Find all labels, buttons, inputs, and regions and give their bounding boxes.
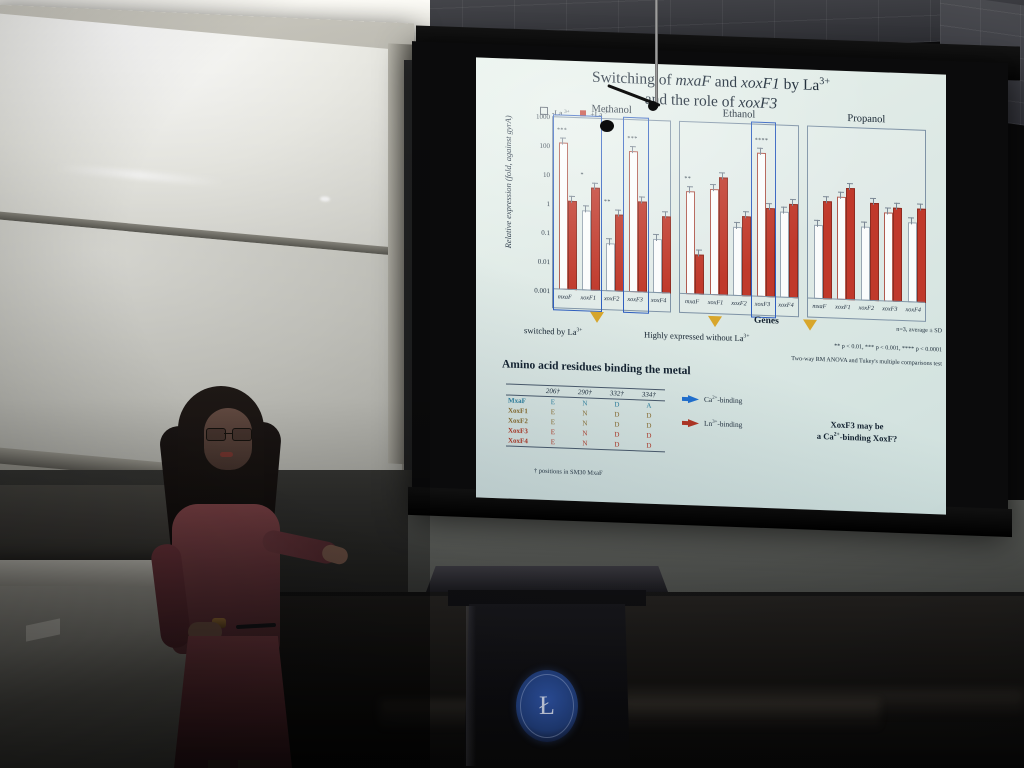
error-bar bbox=[656, 234, 657, 241]
title-post: by La bbox=[780, 76, 820, 94]
bar-group-xoxF1 bbox=[704, 123, 727, 296]
error-bar bbox=[745, 211, 746, 218]
error-bar bbox=[594, 183, 595, 190]
title-charge: 3+ bbox=[819, 76, 830, 87]
bar-group-xoxF2: ** bbox=[600, 119, 623, 292]
bar-group-xoxF3: **** bbox=[751, 124, 774, 297]
x-axis: mxaFxoxF1xoxF2xoxF3xoxF4 bbox=[553, 288, 670, 311]
error-bar bbox=[632, 147, 633, 154]
error-bar bbox=[911, 217, 912, 224]
x-tick-label-xoxF4: xoxF4 bbox=[902, 302, 925, 321]
bar-xoxF1-minus-la bbox=[710, 189, 719, 296]
bar-group-mxaF: *** bbox=[553, 117, 576, 290]
x-tick-label-xoxF4: xoxF4 bbox=[647, 293, 670, 312]
bar-group-mxaF: ** bbox=[680, 122, 703, 295]
significance-mark: ** bbox=[604, 199, 611, 205]
table-cell: N bbox=[569, 438, 601, 450]
red-arrow-icon bbox=[682, 419, 699, 428]
bar-group-xoxF1: * bbox=[576, 118, 599, 291]
bar-group-xoxF4 bbox=[902, 130, 925, 303]
annotation-switched-by-la: switched by La3+ bbox=[524, 325, 582, 337]
x-tick-label-xoxF2: xoxF2 bbox=[600, 291, 623, 310]
lectern: Ł bbox=[426, 566, 668, 768]
bar-xoxF4-minus-la bbox=[780, 211, 789, 298]
y-tick-label: 0.01 bbox=[538, 258, 550, 266]
floor-highlight-right bbox=[620, 690, 1024, 716]
plot-area: ****** bbox=[680, 122, 797, 298]
title-gene-xoxF1: xoxF1 bbox=[741, 74, 780, 92]
bar-xoxF4-plus-la bbox=[789, 204, 798, 298]
error-bar bbox=[873, 198, 874, 205]
binding-legend: Ca2+-binding Ln3+-binding bbox=[682, 395, 742, 445]
table-cell: E bbox=[537, 437, 569, 449]
x-axis: mxaFxoxF1xoxF2xoxF3xoxF4 bbox=[680, 293, 797, 316]
bar-xoxF4-plus-la bbox=[662, 216, 671, 294]
bar-mxaF-minus-la bbox=[559, 142, 568, 289]
bar-group-xoxF4 bbox=[774, 125, 797, 298]
table-footnote: † positions in SM30 MxaF bbox=[534, 468, 603, 478]
bar-group-mxaF bbox=[808, 127, 831, 300]
chart-panel-methanol: Methanol*********mxaFxoxF1xoxF2xoxF3xoxF… bbox=[552, 116, 671, 312]
bar-group-xoxF2 bbox=[855, 128, 878, 301]
x-tick-label-xoxF3: xoxF3 bbox=[878, 301, 901, 320]
y-tick-label: 0.1 bbox=[541, 229, 550, 237]
lectern-neck bbox=[448, 590, 646, 606]
error-bar bbox=[817, 220, 818, 227]
bar-xoxF2-minus-la bbox=[733, 227, 742, 296]
x-tick-label-xoxF3: xoxF3 bbox=[751, 296, 774, 315]
leg-right bbox=[238, 760, 260, 768]
table-cell: D bbox=[633, 440, 665, 452]
bar-xoxF2-minus-la bbox=[861, 227, 870, 301]
error-bar bbox=[618, 209, 619, 216]
emblem-monogram: Ł bbox=[539, 691, 555, 721]
x-axis-label: Genes bbox=[754, 316, 779, 327]
stats-note-p: ** p < 0.01, *** p < 0.001, **** p < 0.0… bbox=[834, 343, 942, 356]
annotation-text: switched by La bbox=[524, 325, 577, 337]
error-bar bbox=[783, 206, 784, 213]
error-bar bbox=[736, 222, 737, 229]
bar-xoxF3-minus-la bbox=[884, 212, 893, 301]
whiteboard-panel-top bbox=[0, 13, 402, 250]
bar-xoxF1-minus-la bbox=[837, 197, 846, 300]
title-gene-mxaF: mxaF bbox=[676, 72, 711, 90]
error-bar bbox=[896, 203, 897, 210]
x-tick-label-mxaF: mxaF bbox=[680, 294, 703, 313]
lecture-hall-photo: Switching of mxaF and xoxF1 by La3+ and … bbox=[0, 0, 1024, 768]
plot-area: ********* bbox=[553, 117, 670, 293]
error-bar bbox=[722, 172, 723, 179]
presenter bbox=[150, 386, 340, 768]
lectern-edge-highlight bbox=[466, 606, 476, 766]
x-tick-label-xoxF2: xoxF2 bbox=[727, 296, 750, 315]
bar-xoxF4-plus-la bbox=[917, 208, 926, 302]
chart-panel-propanol: PropanolmxaFxoxF1xoxF2xoxF3xoxF4 bbox=[807, 126, 926, 322]
bar-group-xoxF4 bbox=[647, 121, 670, 294]
y-axis-label: Relative expression (fold, against gyrA) bbox=[504, 107, 515, 257]
bar-xoxF3-minus-la bbox=[629, 151, 638, 292]
binding-legend-ca: Ca2+-binding bbox=[682, 395, 742, 405]
annotation-highly-expressed: Highly expressed without La3+ bbox=[644, 330, 749, 344]
y-tick-label: 1 bbox=[547, 200, 551, 208]
bar-mxaF-minus-la bbox=[814, 225, 823, 299]
bar-xoxF3-minus-la bbox=[757, 152, 766, 297]
lips bbox=[220, 452, 233, 457]
error-bar bbox=[792, 199, 793, 206]
annotation-charge: 3+ bbox=[577, 327, 583, 333]
significance-mark: **** bbox=[755, 137, 769, 143]
significance-mark: *** bbox=[557, 127, 567, 133]
down-arrow-icon bbox=[590, 312, 604, 324]
significance-mark: ** bbox=[684, 176, 691, 182]
ceiling-rod bbox=[655, 0, 658, 108]
y-tick-label: 10 bbox=[543, 171, 550, 179]
x-tick-label-xoxF2: xoxF2 bbox=[855, 300, 878, 319]
y-tick-label: 100 bbox=[540, 142, 551, 150]
error-bar bbox=[641, 196, 642, 203]
x-tick-label-xoxF4: xoxF4 bbox=[774, 297, 797, 316]
section-subheading: Amino acid residues binding the metal bbox=[502, 358, 691, 377]
y-tick-label: 1000 bbox=[536, 113, 550, 122]
significance-mark: * bbox=[580, 172, 583, 178]
down-arrow-icon bbox=[708, 316, 722, 328]
binding-label-ln: Ln3+-binding bbox=[704, 420, 742, 429]
binding-label-ca: Ca2+-binding bbox=[704, 396, 742, 405]
bar-xoxF2-minus-la bbox=[606, 243, 615, 292]
error-bar bbox=[689, 186, 690, 193]
bar-group-xoxF3: *** bbox=[623, 120, 646, 293]
x-axis: mxaFxoxF1xoxF2xoxF3xoxF4 bbox=[808, 298, 925, 321]
error-bar bbox=[665, 211, 666, 218]
title-mid: and bbox=[711, 73, 741, 91]
error-bar bbox=[920, 204, 921, 211]
bar-xoxF4-minus-la bbox=[653, 239, 662, 293]
binding-legend-ln: Ln3+-binding bbox=[682, 419, 742, 429]
bar-xoxF4-minus-la bbox=[908, 222, 917, 303]
y-axis-ticks: 10001001010.10.010.001 bbox=[524, 116, 550, 307]
table-cell: D bbox=[601, 439, 633, 451]
bar-group-xoxF1 bbox=[831, 127, 854, 300]
x-tick-label-xoxF1: xoxF1 bbox=[831, 299, 854, 318]
error-bar bbox=[698, 250, 699, 257]
bar-mxaF-minus-la bbox=[686, 191, 695, 294]
leg-left bbox=[208, 760, 230, 768]
slide-conclusion: XoxF3 may be a Ca2+-binding XoxF? bbox=[782, 417, 932, 447]
x-tick-label-xoxF3: xoxF3 bbox=[623, 292, 646, 311]
stats-note-test: Two-way RM ANOVA and Tukey's multiple co… bbox=[791, 355, 942, 370]
error-bar bbox=[562, 138, 563, 145]
bar-group-xoxF2 bbox=[727, 124, 750, 297]
plot-area bbox=[808, 127, 925, 303]
university-emblem-icon: Ł bbox=[516, 670, 578, 742]
amino-acid-table: 206†290†332†334† MxaFENDAXoxF1ENDDXoxF2E… bbox=[506, 383, 665, 452]
glasses-icon bbox=[206, 428, 252, 439]
annotation-charge: 3+ bbox=[744, 333, 750, 339]
x-tick-label-xoxF1: xoxF1 bbox=[704, 295, 727, 314]
error-bar bbox=[887, 207, 888, 214]
chart-panel-ethanol: Ethanol******mxaFxoxF1xoxF2xoxF3xoxF4 bbox=[679, 121, 798, 317]
chart-panels: Methanol*********mxaFxoxF1xoxF2xoxF3xoxF… bbox=[552, 116, 926, 322]
error-bar bbox=[713, 184, 714, 191]
error-bar bbox=[840, 192, 841, 199]
down-arrow-icon bbox=[803, 319, 817, 331]
stats-note-n: n=3, average ± SD bbox=[896, 326, 942, 337]
lectern-top bbox=[426, 566, 668, 592]
title-pre: Switching of bbox=[592, 69, 676, 89]
bar-group-xoxF3 bbox=[878, 129, 901, 302]
annotation-text: Highly expressed without La bbox=[644, 330, 744, 344]
x-tick-label-xoxF1: xoxF1 bbox=[576, 290, 599, 309]
error-bar bbox=[571, 196, 572, 203]
whiteboard-specular-dot bbox=[320, 196, 330, 201]
microphone-joint bbox=[648, 101, 658, 111]
significance-mark: *** bbox=[627, 136, 637, 142]
error-bar bbox=[769, 203, 770, 210]
error-bar bbox=[585, 205, 586, 212]
error-bar bbox=[826, 196, 827, 203]
x-tick-label-mxaF: mxaF bbox=[553, 289, 576, 308]
error-bar bbox=[609, 238, 610, 245]
projected-slide: Switching of mxaF and xoxF1 by La3+ and … bbox=[476, 57, 946, 514]
x-tick-label-mxaF: mxaF bbox=[808, 299, 831, 318]
bar-xoxF1-minus-la bbox=[582, 210, 591, 291]
blue-arrow-icon bbox=[682, 395, 699, 404]
error-bar bbox=[760, 148, 761, 155]
y-tick-label: 0.001 bbox=[534, 287, 550, 296]
error-bar bbox=[849, 184, 850, 191]
table-row-gene: XoxF4 bbox=[506, 435, 537, 447]
microphone-head-icon bbox=[600, 120, 614, 132]
error-bar bbox=[864, 222, 865, 229]
skirt bbox=[174, 636, 292, 768]
